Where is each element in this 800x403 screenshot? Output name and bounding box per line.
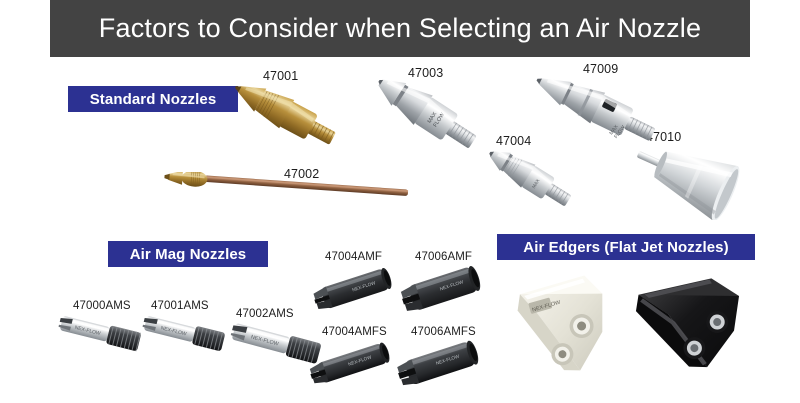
product-image-air-edger-light: NEX-FLOW [498, 272, 628, 390]
product-image-47010 [630, 142, 760, 220]
page-title: Factors to Consider when Selecting an Ai… [99, 13, 701, 44]
part-label-47000AMS: 47000AMS [73, 300, 131, 312]
section-label-standard-nozzles: Standard Nozzles [68, 86, 238, 112]
part-label-47006AMFS: 47006AMFS [411, 326, 476, 338]
product-image-47006AMF: NEX-FLOW [400, 266, 484, 312]
section-label-text: Standard Nozzles [90, 91, 217, 108]
product-image-47002 [160, 172, 410, 204]
part-label-47006AMF: 47006AMF [415, 251, 472, 263]
section-label-air-edgers: Air Edgers (Flat Jet Nozzles) [497, 234, 755, 260]
product-image-47004: MAX [482, 148, 578, 210]
product-image-47004AMFS: NEX-FLOW [308, 340, 394, 386]
product-image-47009: MAX FLOW [530, 76, 660, 142]
product-image-47006AMFS: NEX-FLOW [396, 340, 482, 386]
section-label-text: Air Edgers (Flat Jet Nozzles) [523, 239, 728, 256]
header-banner: Factors to Consider when Selecting an Ai… [50, 0, 750, 57]
part-label-47004AMF: 47004AMF [325, 251, 382, 263]
product-image-47001 [228, 82, 348, 150]
product-image-air-edger-black [630, 276, 760, 388]
part-label-47001AMS: 47001AMS [151, 300, 209, 312]
part-label-47004AMFS: 47004AMFS [322, 326, 387, 338]
part-label-47001: 47001 [263, 69, 298, 83]
part-label-47009: 47009 [583, 62, 618, 76]
product-image-47000AMS: NEX-FLOW [56, 314, 144, 354]
part-label-47002AMS: 47002AMS [236, 308, 294, 320]
product-image-47004AMF: NEX-FLOW [312, 266, 396, 312]
product-image-47003: MAX FLOW [368, 78, 484, 152]
section-label-text: Air Mag Nozzles [130, 246, 247, 263]
product-image-47001AMS: NEX-FLOW [140, 314, 228, 354]
section-label-air-mag-nozzles: Air Mag Nozzles [108, 241, 268, 267]
part-label-47004: 47004 [496, 134, 531, 148]
